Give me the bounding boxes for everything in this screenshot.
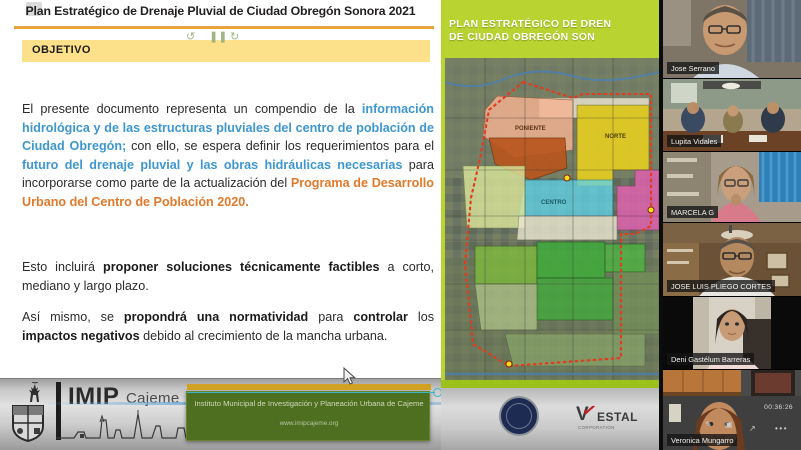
svg-text:NORTE: NORTE: [605, 134, 626, 140]
participant-tile-1[interactable]: Lupita Vidales: [663, 79, 801, 151]
section-heading-label: OBJETIVO: [32, 44, 91, 56]
pointer-tool-icon[interactable]: ↗: [749, 424, 756, 433]
p1-seg3: con ello, se espera definir los requerim…: [126, 139, 434, 153]
p3-seg7: debido al crecimiento de la mancha urban…: [140, 329, 388, 343]
section-heading-bar: OBJETIVO: [22, 40, 430, 62]
p3-seg1: Así mismo, se: [22, 310, 124, 324]
map-title-line2: DE CIUDAD OBREGÓN SON: [449, 32, 595, 43]
participant-tile-2[interactable]: MARCELA G: [663, 152, 801, 222]
screen-root: Plan Estratégico de Drenaje Pluvial de C…: [0, 0, 801, 450]
municipal-seal-icon: [499, 396, 539, 436]
p3-seg4: controlar: [353, 310, 408, 324]
p2-seg1: Esto incluirá: [22, 260, 103, 274]
caption-url[interactable]: www.imipcajeme.org: [187, 420, 431, 427]
map-graphic: PONIENTE NORTE CENTRO: [445, 58, 659, 388]
text-box-icon[interactable]: ▣: [725, 420, 733, 429]
map-title-line1: PLAN ESTRATÉGICO DE DREN: [449, 19, 611, 30]
map-footer: V ✓ ESTAL CORPORATION: [441, 388, 663, 450]
caption-overlay-box: Instituto Municipal de Investigación y P…: [186, 391, 430, 441]
participant-tile-0[interactable]: Jose Serrano: [663, 0, 801, 78]
caption-gold-bar: [187, 384, 431, 390]
presentation-slide: Plan Estratégico de Drenaje Pluvial de C…: [0, 0, 441, 450]
paragraph-objective-3: Así mismo, se propondrá una normatividad…: [22, 308, 434, 345]
arrow-cursor: [343, 367, 356, 385]
p3-seg3: para: [308, 310, 353, 324]
map-footer-green-bar: [441, 380, 663, 388]
vestal-rest-letters: ESTAL: [597, 410, 638, 424]
p3-seg6: impactos negativos: [22, 329, 140, 343]
p3-seg2: propondrá una normatividad: [124, 310, 308, 324]
svg-text:CENTRO: CENTRO: [541, 200, 567, 206]
participant-name-1: Lupita Vidales: [667, 135, 721, 147]
participant-tile-4[interactable]: Deni Gastélum Barreras: [663, 297, 801, 369]
title-divider: [14, 26, 434, 29]
p3-seg5: los: [408, 310, 434, 324]
vestal-subtitle: CORPORATION: [578, 425, 615, 430]
participant-name-3: JOSE LUIS PLIEGO CORTES: [667, 280, 775, 292]
pause-button[interactable]: ❚❚: [209, 30, 227, 43]
svg-text:PONIENTE: PONIENTE: [515, 126, 546, 132]
participant-tile-3[interactable]: JOSE LUIS PLIEGO CORTES: [663, 223, 801, 296]
participant-name-0: Jose Serrano: [667, 62, 719, 74]
map-image[interactable]: PONIENTE NORTE CENTRO: [445, 58, 659, 388]
p1-seg4: futuro del drenaje pluvial y las obras h…: [22, 158, 402, 172]
participant-name-4: Deni Gastélum Barreras: [667, 353, 754, 365]
vestal-check-icon: ✓: [580, 400, 598, 423]
pen-tool-icon[interactable]: ✎: [705, 420, 712, 429]
rewind-button[interactable]: ↺: [186, 30, 195, 43]
participant-name-2: MARCELA G: [667, 206, 718, 218]
shield-icon: [10, 404, 46, 442]
caption-organization-name: Instituto Municipal de Investigación y P…: [187, 399, 431, 409]
meeting-timer: 00:36:26: [764, 404, 793, 411]
page-title: Plan Estratégico de Drenaje Pluvial de C…: [0, 4, 441, 18]
map-title: PLAN ESTRATÉGICO DE DREN DE CIUDAD OBREG…: [449, 18, 663, 44]
footer-top-rule: [0, 378, 441, 379]
vestal-logo: V ✓ ESTAL CORPORATION: [576, 404, 589, 426]
participant-video-rail: Jose Serrano Lupita Vidales: [663, 0, 801, 450]
forward-button[interactable]: ↻: [230, 30, 239, 43]
p2-seg2: proponer soluciones técnicamente factibl…: [103, 260, 380, 274]
paragraph-objective-1: El presente documento representa un comp…: [22, 100, 434, 212]
more-options-icon[interactable]: •••: [775, 424, 788, 433]
paragraph-objective-2: Esto incluirá proponer soluciones técnic…: [22, 258, 434, 295]
annotation-teal-dot[interactable]: [433, 388, 441, 397]
deer-icon: [22, 382, 48, 404]
p1-seg1: El presente documento representa un comp…: [22, 102, 362, 116]
participant-name-5: Veronica Mungarro: [667, 434, 737, 446]
imip-wordmark: IMIP: [68, 383, 119, 411]
seal-inner-ring: [506, 403, 532, 429]
annotation-teal-line: [187, 392, 435, 393]
map-pane: PLAN ESTRATÉGICO DE DREN DE CIUDAD OBREG…: [441, 0, 663, 450]
